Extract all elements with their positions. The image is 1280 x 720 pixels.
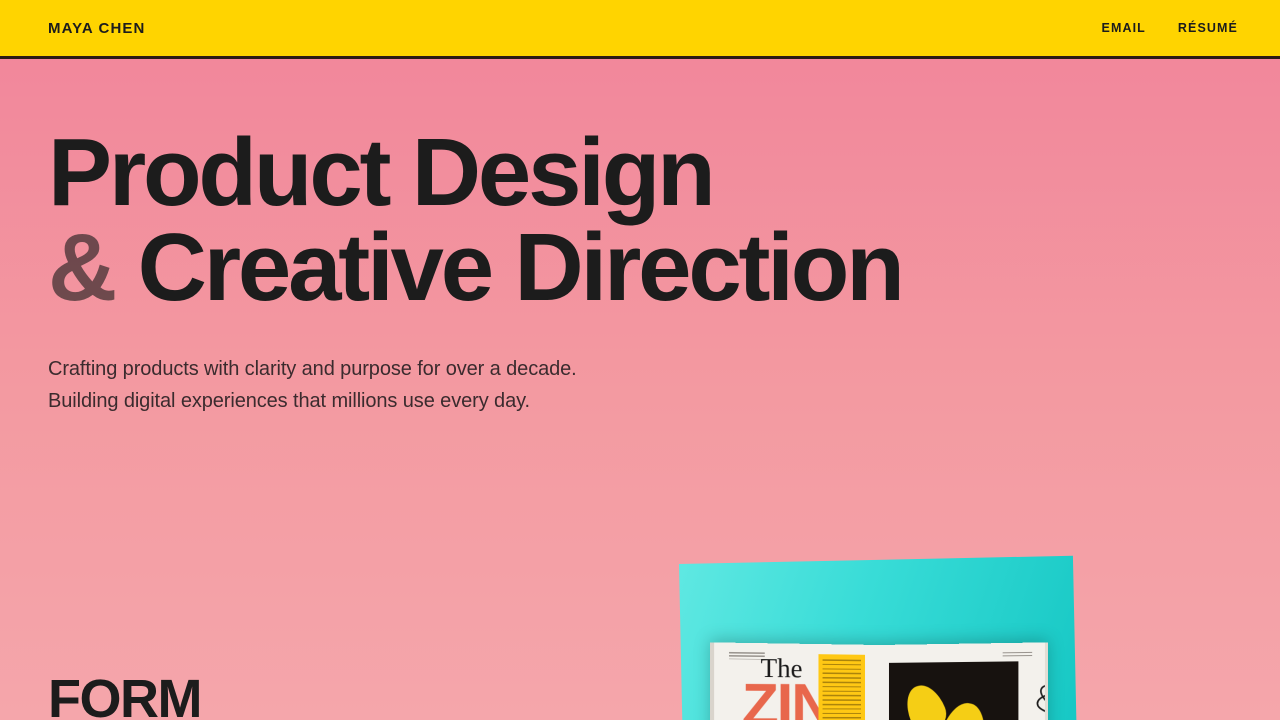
portfolio-landing-page: MAYA CHEN EMAIL RÉSUMÉ Product Design & …: [0, 0, 1280, 720]
right-page-meta-lines: [1003, 652, 1033, 659]
hero-subtitle-line-1: Crafting products with clarity and purpo…: [48, 353, 902, 385]
site-header: MAYA CHEN EMAIL RÉSUMÉ: [0, 0, 1280, 59]
left-page-column-text-lines: [823, 659, 861, 720]
hero-headline-line-2-text: Creative Direction: [138, 214, 902, 321]
primary-nav: EMAIL RÉSUMÉ: [1102, 21, 1238, 35]
ampersand-glyph: &: [48, 214, 114, 321]
left-page-meta-lines: [729, 652, 765, 660]
magazine-showcase: The ZIN: [679, 564, 1077, 720]
magazine-left-page: The ZIN: [710, 642, 879, 720]
nav-link-email[interactable]: EMAIL: [1102, 21, 1146, 35]
atom-diagram-icon: [1033, 669, 1048, 720]
right-page-black-panel: [889, 661, 1018, 720]
section-heading-form: FORM: [48, 672, 201, 720]
hero-headline-line-2: & Creative Direction: [48, 220, 902, 315]
brand-name[interactable]: MAYA CHEN: [48, 20, 145, 37]
hero-subtitle: Crafting products with clarity and purpo…: [48, 353, 902, 417]
hero-section: Product Design & Creative Direction Craf…: [48, 125, 902, 417]
magazine-right-page: [879, 642, 1048, 720]
nav-link-resume[interactable]: RÉSUMÉ: [1178, 21, 1238, 35]
hero-headline-line-1: Product Design: [48, 125, 902, 220]
left-page-yellow-column: [818, 654, 865, 720]
pear-shape-icon: [900, 679, 951, 720]
open-magazine-spread: The ZIN: [715, 645, 1043, 720]
hero-subtitle-line-2: Building digital experiences that millio…: [48, 385, 902, 417]
